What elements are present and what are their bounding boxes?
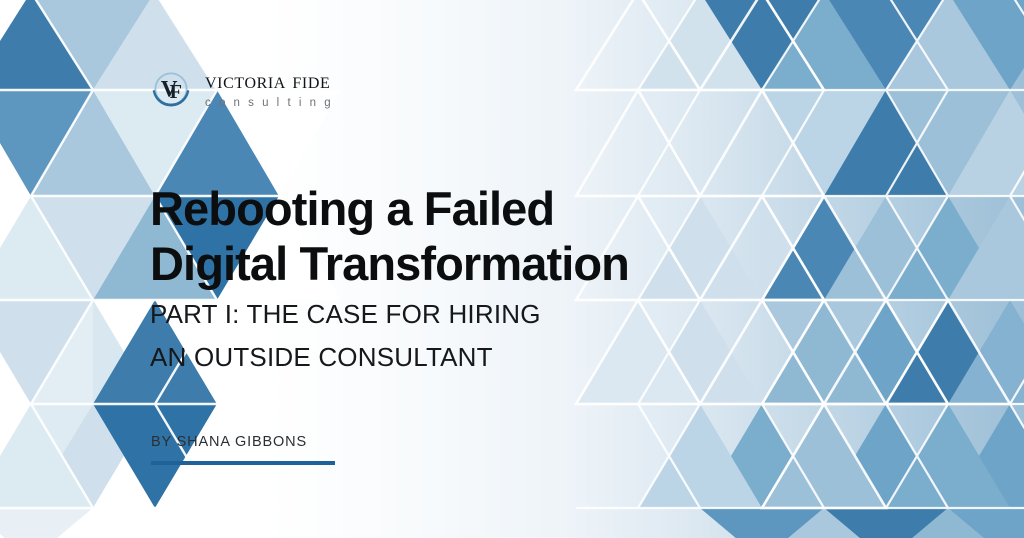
article-cover: V F Victoria Fide consulting Rebooting a… — [0, 0, 1024, 538]
brand-tagline: consulting — [205, 97, 339, 109]
vf-monogram-circle-icon: V F — [148, 66, 194, 112]
brand-logo[interactable]: V F Victoria Fide consulting — [148, 66, 339, 112]
author-byline: By Shana Gibbons — [151, 434, 307, 450]
brand-name: Victoria Fide — [205, 69, 339, 93]
svg-text:F: F — [170, 81, 182, 103]
byline-accent-rule — [151, 461, 335, 465]
page-subtitle: Part I: The case for hiring an outside c… — [150, 293, 541, 379]
page-title: Rebooting a Failed Digital Transformatio… — [150, 181, 629, 291]
